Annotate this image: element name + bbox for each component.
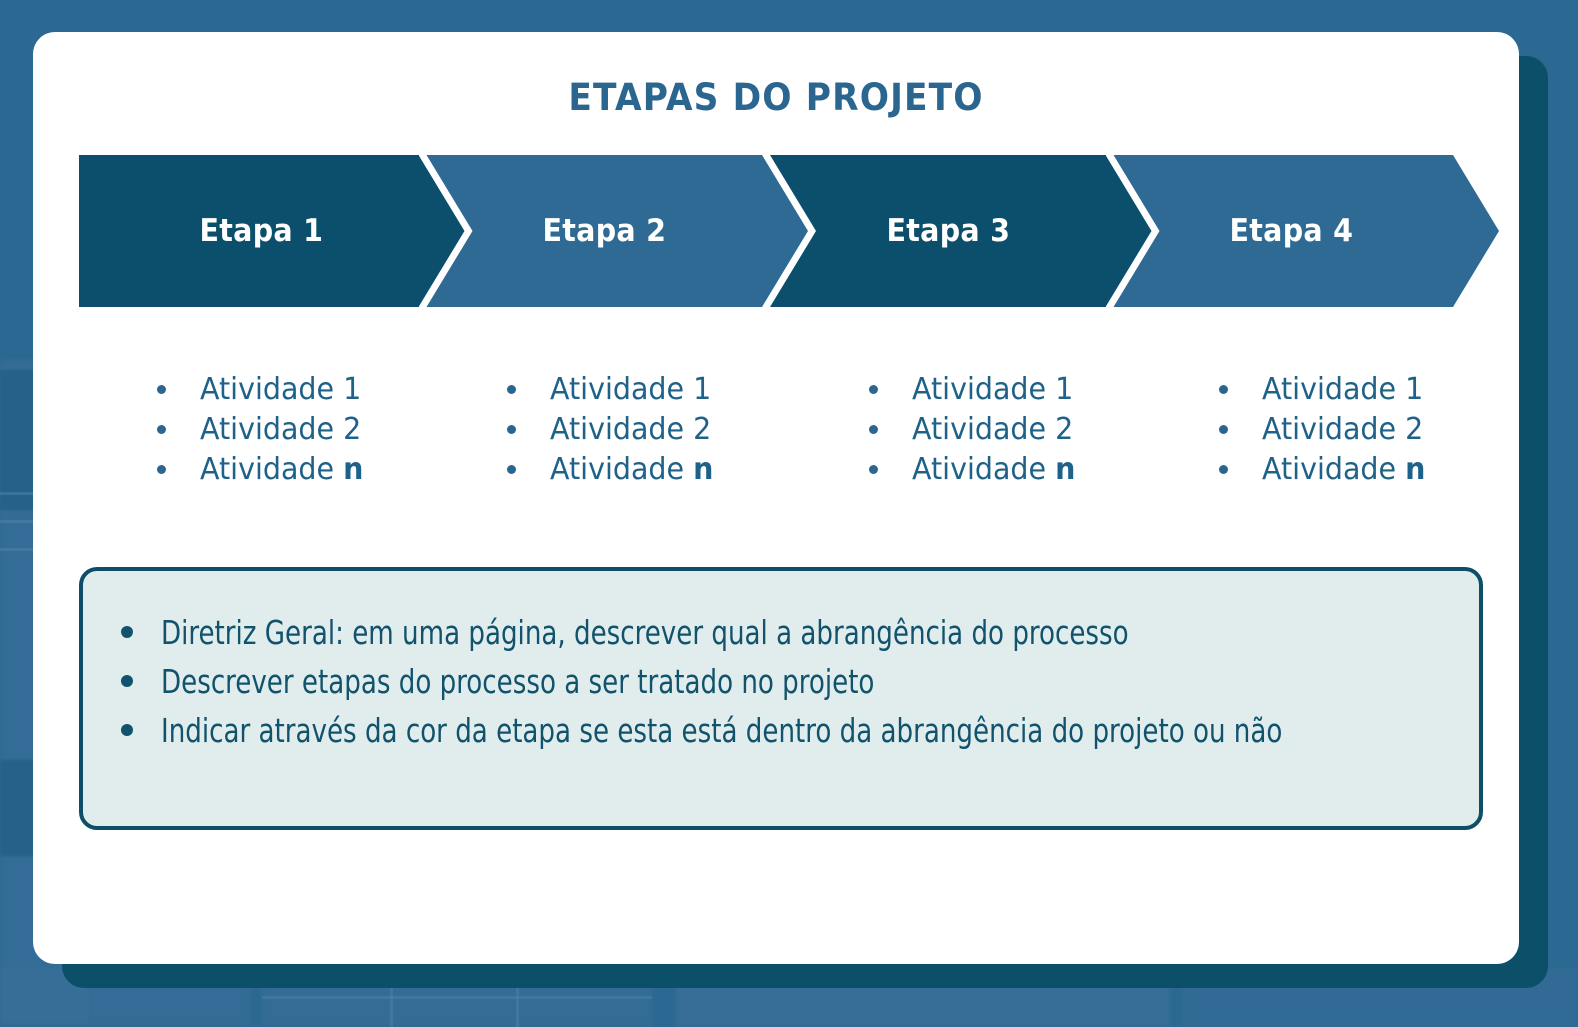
stage-activities-row: Atividade 1Atividade 2Atividade nAtivida… (79, 372, 1499, 512)
stage-chevron-label: Etapa 1 (199, 213, 323, 249)
bullet-icon (869, 465, 878, 474)
stage-chevron-4[interactable]: Etapa 4 (1110, 155, 1500, 307)
bullet-icon (121, 724, 133, 736)
guideline-text: Diretriz Geral: em uma página, descrever… (161, 609, 1294, 656)
activity-column-4: Atividade 1Atividade 2Atividade n (1219, 372, 1434, 492)
guidelines-callout: Diretriz Geral: em uma página, descrever… (79, 567, 1483, 830)
slide-card: ETAPAS DO PROJETO Etapa 1Etapa 2Etapa 3E… (33, 32, 1519, 964)
guideline-text: Descrever etapas do processo a ser trata… (161, 658, 1294, 705)
activity-index: 1 (1405, 372, 1423, 407)
activity-label: Atividade n (912, 452, 1075, 487)
activity-label: Atividade 1 (550, 372, 711, 407)
list-item: Atividade 1 (157, 372, 372, 412)
page-title: ETAPAS DO PROJETO (85, 76, 1467, 119)
bullet-icon (507, 465, 516, 474)
bullet-icon (1219, 385, 1228, 394)
list-item: Atividade n (157, 452, 372, 492)
activity-label: Atividade n (200, 452, 363, 487)
stage-chevron-1[interactable]: Etapa 1 (79, 155, 469, 307)
activity-label: Atividade 1 (912, 372, 1073, 407)
activity-index: 1 (343, 372, 361, 407)
bullet-icon (507, 425, 516, 434)
activity-index: 2 (1055, 412, 1073, 447)
stage-chevron-label: Etapa 3 (886, 213, 1010, 249)
bullet-icon (1219, 465, 1228, 474)
activity-label: Atividade 2 (1262, 412, 1423, 447)
bullet-icon (157, 385, 166, 394)
activity-index: n (1405, 452, 1425, 487)
activity-index: 2 (343, 412, 361, 447)
list-item: Atividade 2 (869, 412, 1084, 452)
bullet-icon (157, 425, 166, 434)
activity-index: 1 (693, 372, 711, 407)
activity-index: 2 (693, 412, 711, 447)
guideline-text: Indicar através da cor da etapa se esta … (161, 707, 1294, 754)
stage-chevron-3[interactable]: Etapa 3 (766, 155, 1156, 307)
activity-index: n (693, 452, 713, 487)
activity-label: Atividade 2 (550, 412, 711, 447)
guideline-item: Diretriz Geral: em uma página, descrever… (121, 609, 1449, 656)
stage-chevron-strip: Etapa 1Etapa 2Etapa 3Etapa 4 (79, 155, 1499, 307)
list-item: Atividade 1 (869, 372, 1084, 412)
activity-index: 2 (1405, 412, 1423, 447)
list-item: Atividade 1 (507, 372, 722, 412)
activity-column-3: Atividade 1Atividade 2Atividade n (869, 372, 1084, 492)
bullet-icon (869, 425, 878, 434)
activity-column-2: Atividade 1Atividade 2Atividade n (507, 372, 722, 492)
bullet-icon (507, 385, 516, 394)
stage-chevron-label: Etapa 2 (543, 213, 667, 249)
activity-column-1: Atividade 1Atividade 2Atividade n (157, 372, 372, 492)
bullet-icon (121, 675, 133, 687)
guideline-item: Indicar através da cor da etapa se esta … (121, 707, 1449, 754)
activity-label: Atividade 2 (200, 412, 361, 447)
list-item: Atividade 2 (1219, 412, 1434, 452)
activity-index: 1 (1055, 372, 1073, 407)
list-item: Atividade n (507, 452, 722, 492)
bullet-icon (1219, 425, 1228, 434)
list-item: Atividade 2 (507, 412, 722, 452)
list-item: Atividade n (869, 452, 1084, 492)
bullet-icon (869, 385, 878, 394)
activity-label: Atividade 1 (1262, 372, 1423, 407)
list-item: Atividade 2 (157, 412, 372, 452)
activity-label: Atividade n (550, 452, 713, 487)
activity-label: Atividade 1 (200, 372, 361, 407)
list-item: Atividade n (1219, 452, 1434, 492)
stage-chevron-2[interactable]: Etapa 2 (423, 155, 813, 307)
bullet-icon (157, 465, 166, 474)
list-item: Atividade 1 (1219, 372, 1434, 412)
activity-index: n (1055, 452, 1075, 487)
bullet-icon (121, 626, 133, 638)
activity-label: Atividade 2 (912, 412, 1073, 447)
guideline-item: Descrever etapas do processo a ser trata… (121, 658, 1449, 705)
activity-label: Atividade n (1262, 452, 1425, 487)
backdrop-line (262, 996, 652, 999)
activity-index: n (343, 452, 363, 487)
stage-chevron-label: Etapa 4 (1230, 213, 1354, 249)
